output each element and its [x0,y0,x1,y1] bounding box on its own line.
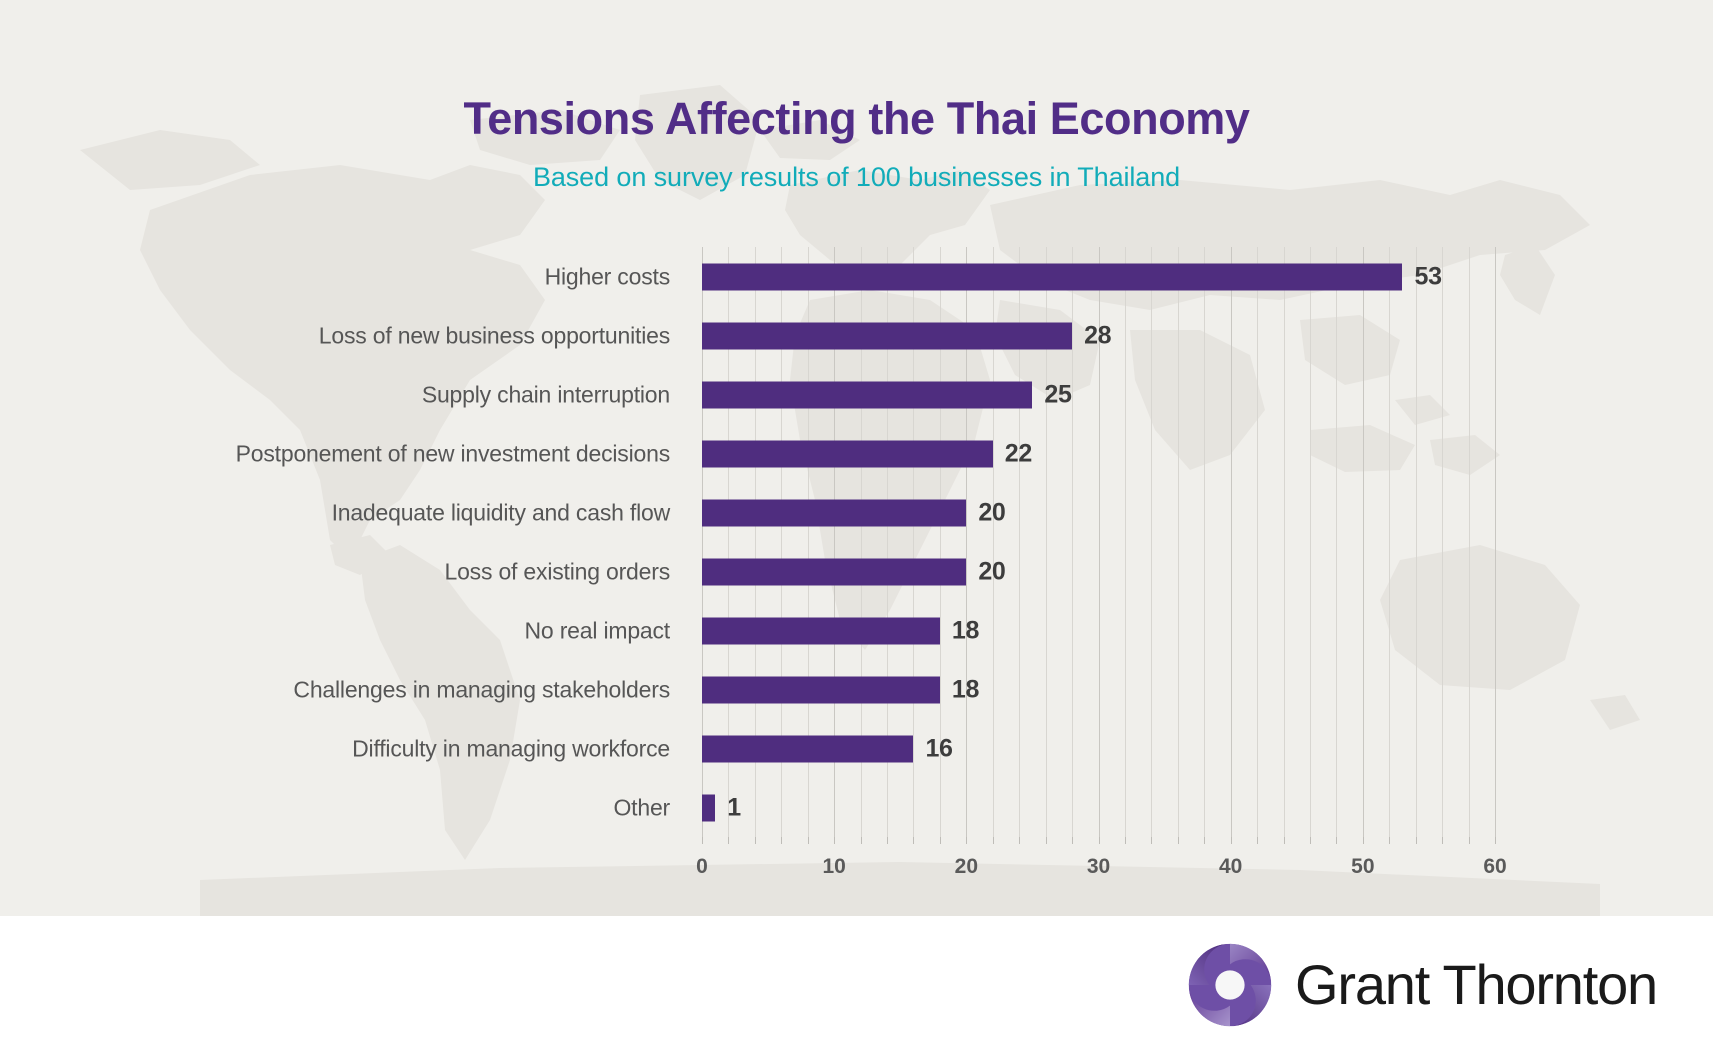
gridline [1310,247,1311,837]
axis-tick [861,837,862,844]
axis-tick-label: 50 [1351,855,1374,879]
gridline [1442,247,1443,837]
axis-tick [966,837,967,844]
axis-tick [1336,837,1337,844]
bar [702,558,966,585]
axis-tick [1125,837,1126,844]
axis-tick [1257,837,1258,844]
bar-value-label: 20 [978,557,1005,586]
axis-tick [1046,837,1047,844]
gridline [1284,247,1285,837]
axis-tick [887,837,888,844]
gridline [1178,247,1179,837]
category-label: Inadequate liquidity and cash flow [10,499,670,526]
plot-area: 5328252220201818161 [702,247,1495,837]
bar [702,676,940,703]
axis-tick-label: 40 [1219,855,1242,879]
bar-value-label: 20 [978,498,1005,527]
bar-value-label: 1 [727,793,741,822]
gridline [1257,247,1258,837]
axis-tick [993,837,994,844]
axis-tick [834,837,835,844]
category-label: Other [10,794,670,821]
axis-tick [1495,837,1496,844]
category-label: Loss of existing orders [10,558,670,585]
gridline [1125,247,1126,837]
value-axis: 0102030405060 [702,837,1495,897]
category-axis-labels: Higher costsLoss of new business opportu… [0,247,686,837]
category-label: No real impact [10,617,670,644]
category-label: Postponement of new investment decisions [10,440,670,467]
axis-tick [1416,837,1417,844]
axis-tick [1099,837,1100,844]
footer: Grant Thornton [0,916,1713,1053]
gridline [1072,247,1073,837]
axis-tick [1389,837,1390,844]
category-label: Loss of new business opportunities [10,322,670,349]
bar [702,617,940,644]
bar [702,381,1032,408]
gridline [1231,247,1232,837]
category-label: Supply chain interruption [10,381,670,408]
brand-logo: Grant Thornton [1187,942,1657,1028]
bar [702,794,715,821]
bar [702,735,913,762]
axis-tick [781,837,782,844]
axis-tick [1178,837,1179,844]
gridline [1389,247,1390,837]
bar-value-label: 28 [1084,321,1111,350]
axis-tick-label: 30 [1087,855,1110,879]
bar [702,499,966,526]
axis-tick [1072,837,1073,844]
axis-tick [755,837,756,844]
axis-tick [940,837,941,844]
axis-tick [808,837,809,844]
axis-tick [913,837,914,844]
axis-tick [1363,837,1364,844]
axis-tick [1469,837,1470,844]
axis-tick [1151,837,1152,844]
axis-tick [1019,837,1020,844]
gridline [1204,247,1205,837]
axis-tick-label: 10 [822,855,845,879]
axis-tick [1231,837,1232,844]
axis-tick-label: 20 [955,855,978,879]
axis-tick-label: 60 [1483,855,1506,879]
gridline [1363,247,1364,837]
category-label: Challenges in managing stakeholders [10,676,670,703]
axis-tick [1204,837,1205,844]
bar-value-label: 18 [952,675,979,704]
bar-value-label: 22 [1005,439,1032,468]
axis-tick [1284,837,1285,844]
header: Tensions Affecting the Thai Economy Base… [0,0,1713,193]
axis-tick-label: 0 [696,855,708,879]
bar-value-label: 16 [925,734,952,763]
bar [702,263,1402,290]
gridline [1151,247,1152,837]
page-title: Tensions Affecting the Thai Economy [0,94,1713,144]
category-label: Difficulty in managing workforce [10,735,670,762]
gridline [1495,247,1496,837]
gridline [1416,247,1417,837]
bar [702,322,1072,349]
axis-tick [1310,837,1311,844]
axis-tick [728,837,729,844]
bar [702,440,993,467]
infographic-root: Tensions Affecting the Thai Economy Base… [0,0,1713,1053]
bar-value-label: 18 [952,616,979,645]
grant-thornton-pinwheel-icon [1187,942,1273,1028]
bar-chart: Higher costsLoss of new business opportu… [0,247,1713,867]
page-subtitle: Based on survey results of 100 businesse… [0,162,1713,193]
gridline [1469,247,1470,837]
axis-tick [702,837,703,844]
category-label: Higher costs [10,263,670,290]
gridline [1336,247,1337,837]
brand-name: Grant Thornton [1295,952,1657,1017]
axis-tick [1442,837,1443,844]
bar-value-label: 25 [1044,380,1071,409]
bar-value-label: 53 [1414,262,1441,291]
